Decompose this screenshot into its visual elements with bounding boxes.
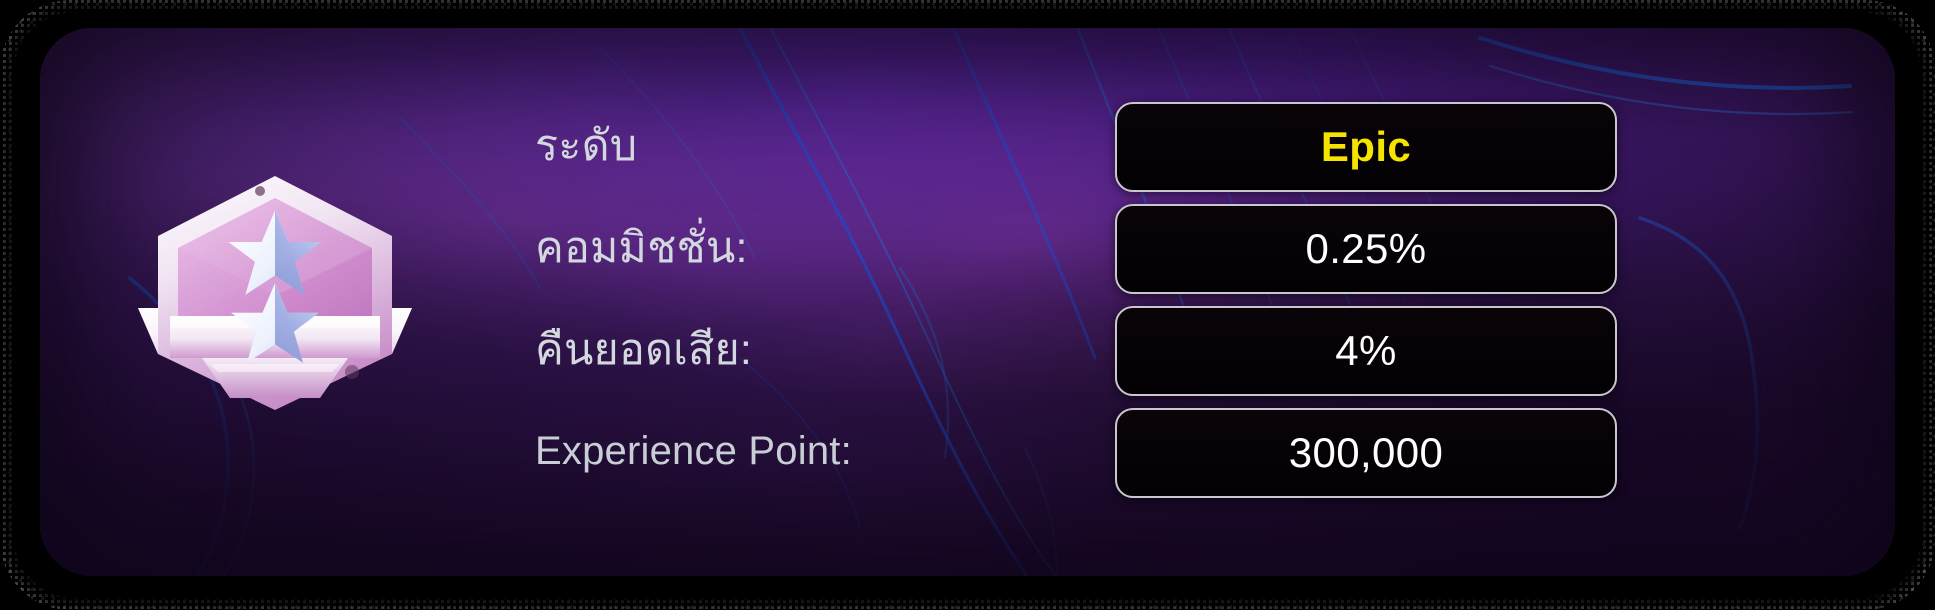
row-experience-point: Experience Point: 300,000 [40, 408, 1895, 494]
value-box-commission[interactable]: 0.25% [1115, 204, 1617, 294]
value-commission: 0.25% [1305, 228, 1426, 270]
rank-card: ระดับ Epic คอมมิชชั่น: 0.25% คืนยอดเสีย:… [40, 28, 1895, 576]
value-box-experience-point[interactable]: 300,000 [1115, 408, 1617, 498]
label-commission: คอมมิชชั่น: [535, 204, 748, 290]
value-box-rank-tier[interactable]: Epic [1115, 102, 1617, 192]
label-rank-tier: ระดับ [535, 102, 637, 188]
value-experience-point: 300,000 [1289, 432, 1444, 474]
value-box-cashback[interactable]: 4% [1115, 306, 1617, 396]
rank-detail-rows: ระดับ Epic คอมมิชชั่น: 0.25% คืนยอดเสีย:… [40, 28, 1895, 576]
value-rank-tier: Epic [1321, 126, 1411, 168]
row-cashback: คืนยอดเสีย: 4% [40, 306, 1895, 392]
row-rank-tier: ระดับ Epic [40, 102, 1895, 188]
row-commission: คอมมิชชั่น: 0.25% [40, 204, 1895, 290]
value-cashback: 4% [1335, 330, 1397, 372]
label-cashback: คืนยอดเสีย: [535, 306, 752, 392]
label-experience-point: Experience Point: [535, 408, 852, 494]
outer-frame: ระดับ Epic คอมมิชชั่น: 0.25% คืนยอดเสีย:… [0, 0, 1935, 610]
